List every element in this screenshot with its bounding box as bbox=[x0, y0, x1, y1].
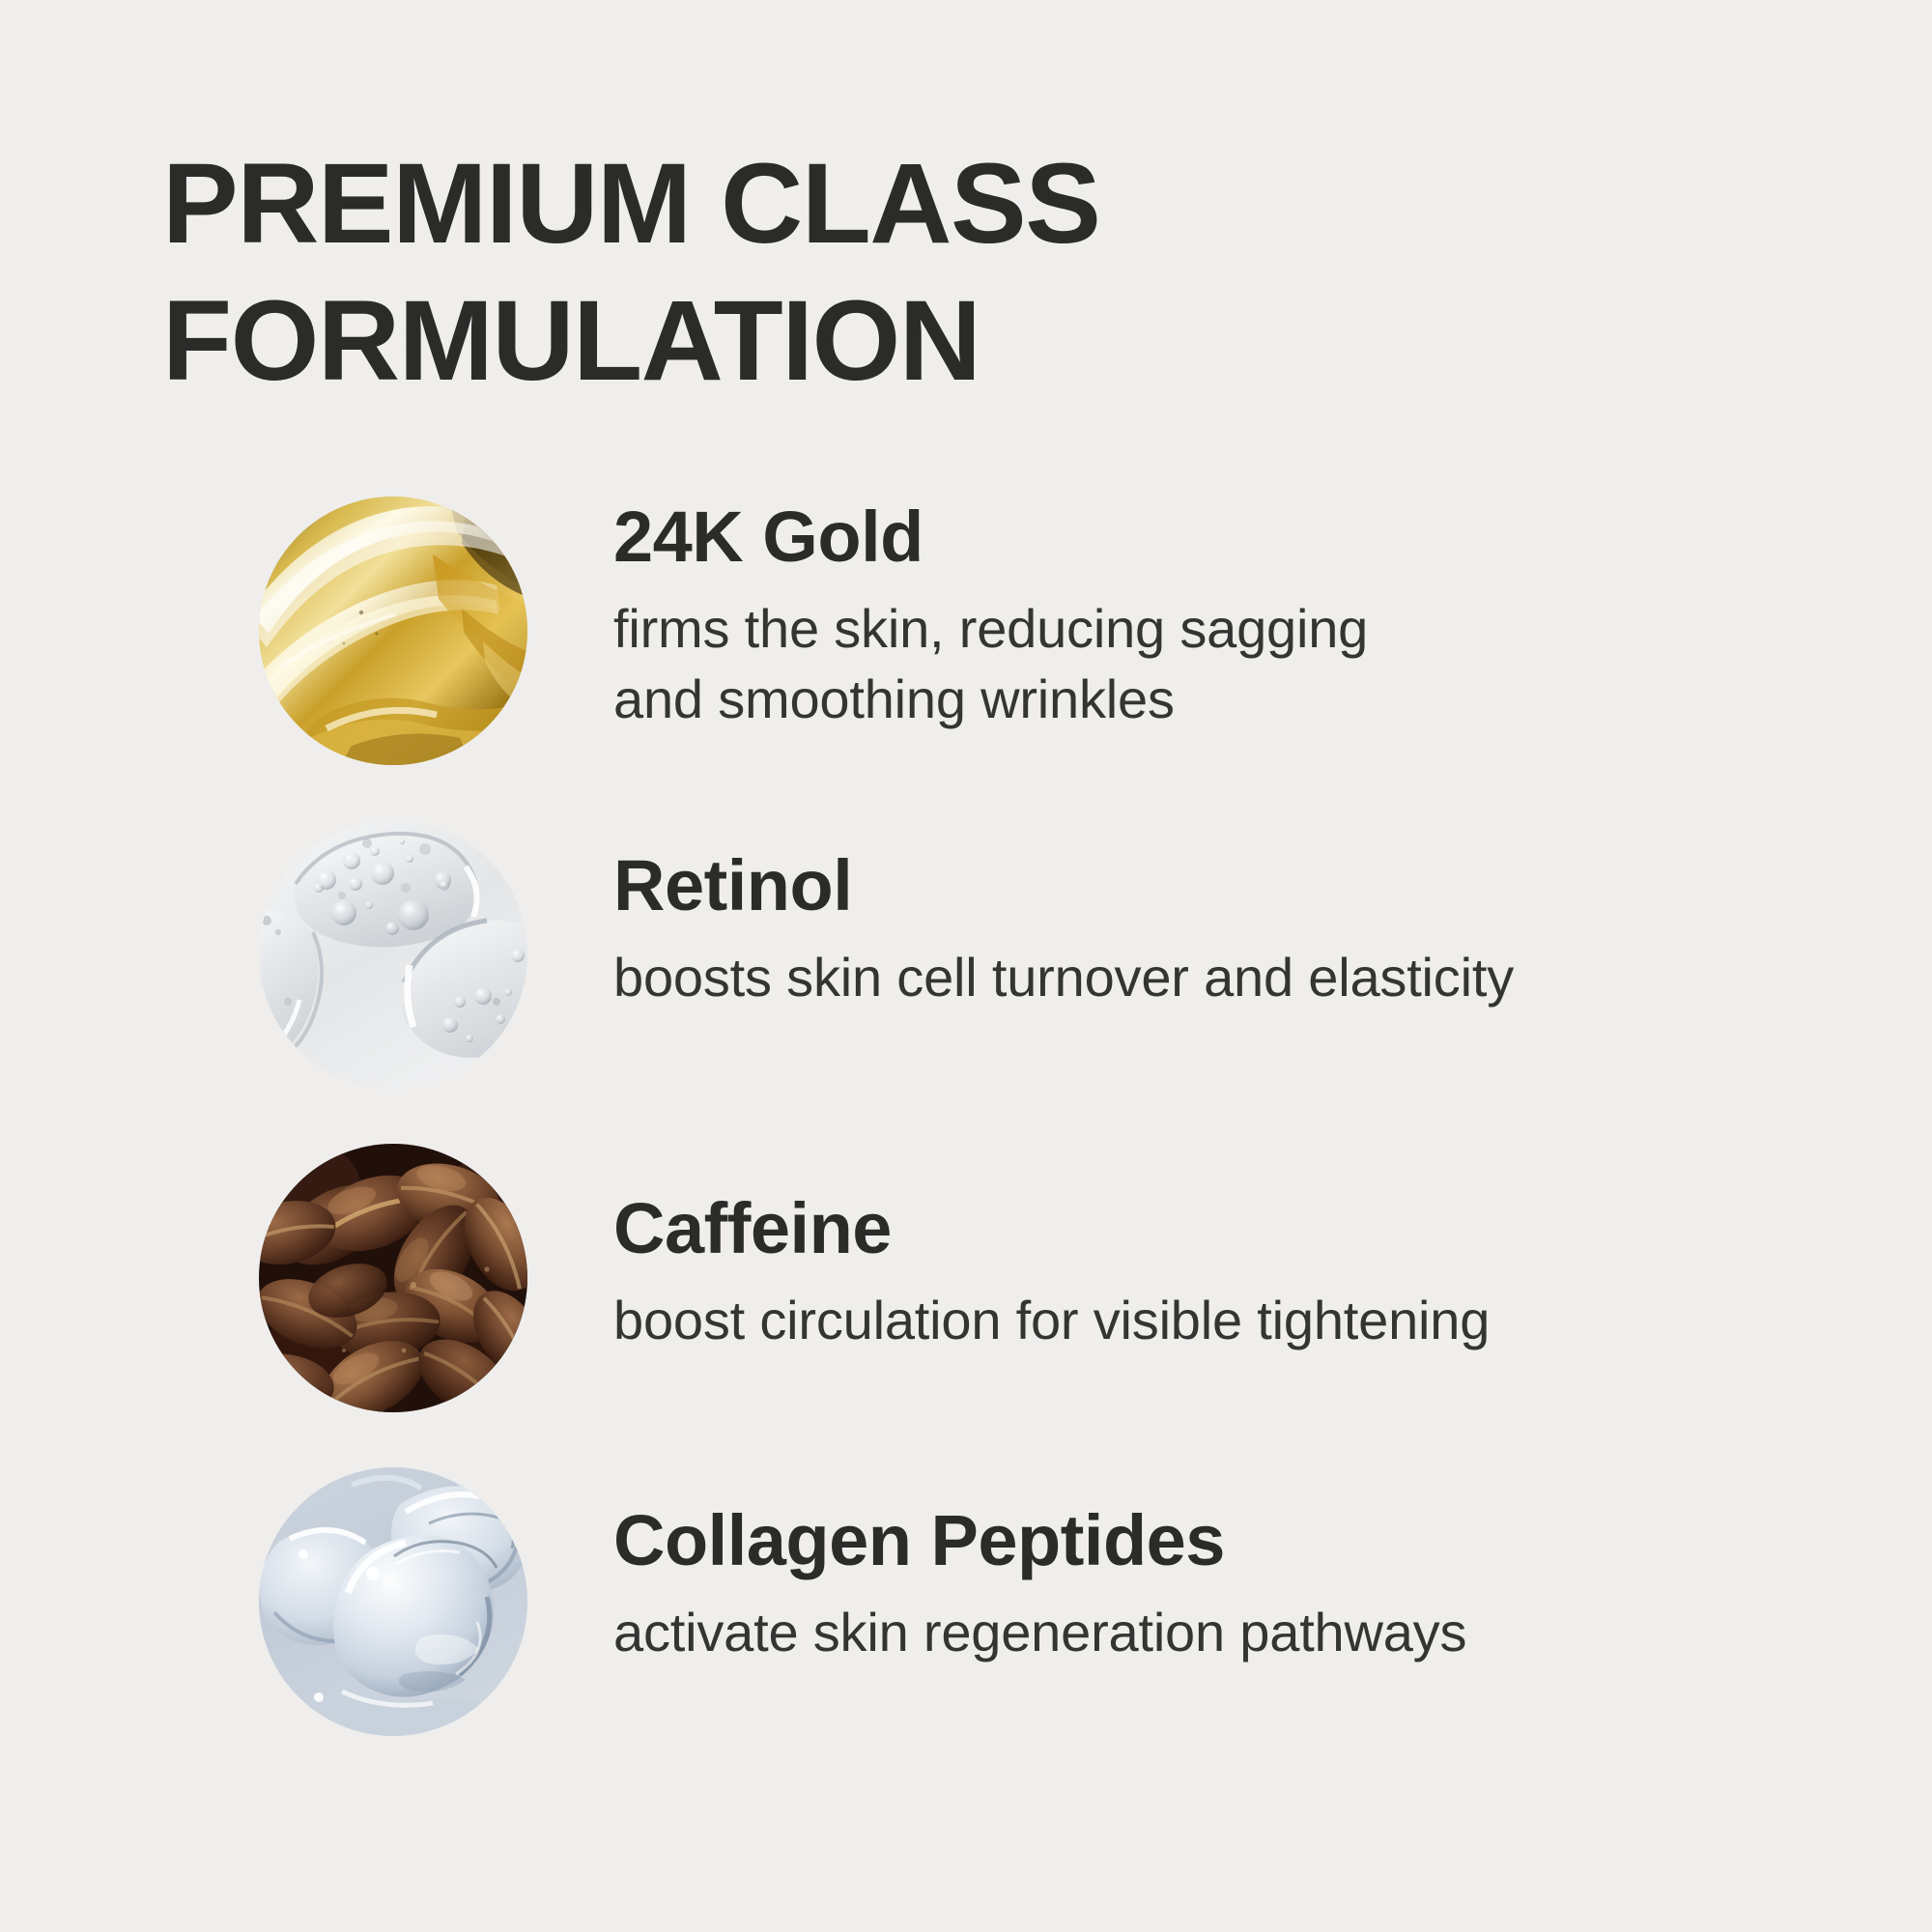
ingredient-item-caffeine: Caffeine boost circulation for visible t… bbox=[259, 1130, 1804, 1454]
thumbnail-wrap-collagen bbox=[259, 1467, 527, 1736]
ingredient-text-retinol: Retinol boosts skin cell turnover and el… bbox=[527, 807, 1804, 1012]
roasted-coffee-beans-photo bbox=[259, 1144, 527, 1412]
ingredient-description: boost circulation for visible tightening bbox=[613, 1285, 1753, 1355]
water-droplet-spheres-photo bbox=[259, 1467, 527, 1736]
description-line-1: boost circulation for visible tightening bbox=[613, 1285, 1753, 1355]
ingredient-item-gold: 24K Gold firms the skin, reducing saggin… bbox=[259, 483, 1804, 807]
thumbnail-wrap-caffeine bbox=[259, 1144, 527, 1412]
ingredient-name: 24K Gold bbox=[613, 497, 1804, 578]
ingredient-item-retinol: Retinol boosts skin cell turnover and el… bbox=[259, 807, 1804, 1130]
ingredient-name: Retinol bbox=[613, 845, 1804, 926]
description-line-1: activate skin regeneration pathways bbox=[613, 1597, 1753, 1667]
ingredient-text-caffeine: Caffeine boost circulation for visible t… bbox=[527, 1130, 1804, 1355]
ingredient-text-collagen: Collagen Peptides activate skin regenera… bbox=[527, 1454, 1804, 1667]
page-title: PREMIUM CLASS FORMULATION bbox=[162, 135, 1418, 410]
ingredient-description: boosts skin cell turnover and elasticity bbox=[613, 942, 1753, 1012]
title-line-2: FORMULATION bbox=[162, 272, 1418, 410]
ingredient-description: activate skin regeneration pathways bbox=[613, 1597, 1753, 1667]
ingredient-description: firms the skin, reducing sagging and smo… bbox=[613, 593, 1753, 734]
ingredient-name: Collagen Peptides bbox=[613, 1500, 1804, 1581]
poster-canvas: PREMIUM CLASS FORMULATION bbox=[0, 0, 1932, 1932]
ingredient-item-collagen: Collagen Peptides activate skin regenera… bbox=[259, 1454, 1804, 1777]
ingredient-list: 24K Gold firms the skin, reducing saggin… bbox=[259, 483, 1804, 1777]
thumbnail-wrap-gold bbox=[259, 497, 527, 765]
gold-silk-swirl-photo bbox=[259, 497, 527, 765]
title-line-1: PREMIUM CLASS bbox=[162, 135, 1418, 272]
description-line-1: firms the skin, reducing sagging bbox=[613, 593, 1753, 664]
ingredient-name: Caffeine bbox=[613, 1188, 1804, 1269]
ingredient-text-gold: 24K Gold firms the skin, reducing saggin… bbox=[527, 483, 1804, 734]
clear-gel-bubbles-photo bbox=[259, 820, 527, 1089]
thumbnail-wrap-retinol bbox=[259, 820, 527, 1089]
description-line-2: and smoothing wrinkles bbox=[613, 664, 1753, 734]
description-line-1: boosts skin cell turnover and elasticity bbox=[613, 942, 1753, 1012]
